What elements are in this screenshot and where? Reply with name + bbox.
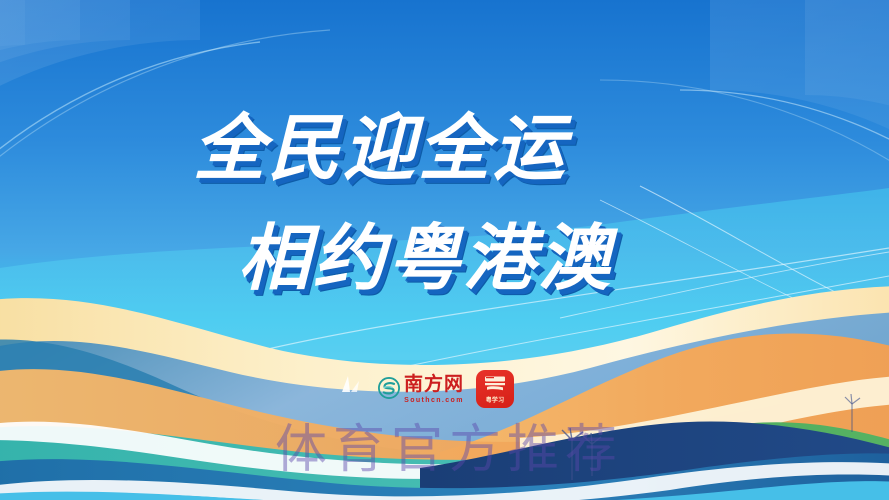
- yuexuexi-label: 粤学习: [486, 398, 505, 404]
- southcn-text-wrap: 南方网 Southcn.com: [404, 375, 464, 404]
- logo-row: 南方网 Southcn.com 粤学习: [378, 370, 514, 408]
- poster-root: 全民迎全运 相约粤港澳 南方网 Southcn.com 粤学习: [0, 0, 889, 500]
- yuexuexi-logo[interactable]: 粤学习: [476, 370, 514, 408]
- southcn-logo[interactable]: 南方网 Southcn.com: [378, 375, 464, 404]
- book-icon: [483, 375, 507, 394]
- southcn-domain-text: Southcn.com: [404, 397, 464, 404]
- southcn-s-mark-icon: [378, 377, 400, 399]
- southcn-chinese-name: 南方网: [404, 375, 464, 394]
- background-artwork: [0, 0, 889, 500]
